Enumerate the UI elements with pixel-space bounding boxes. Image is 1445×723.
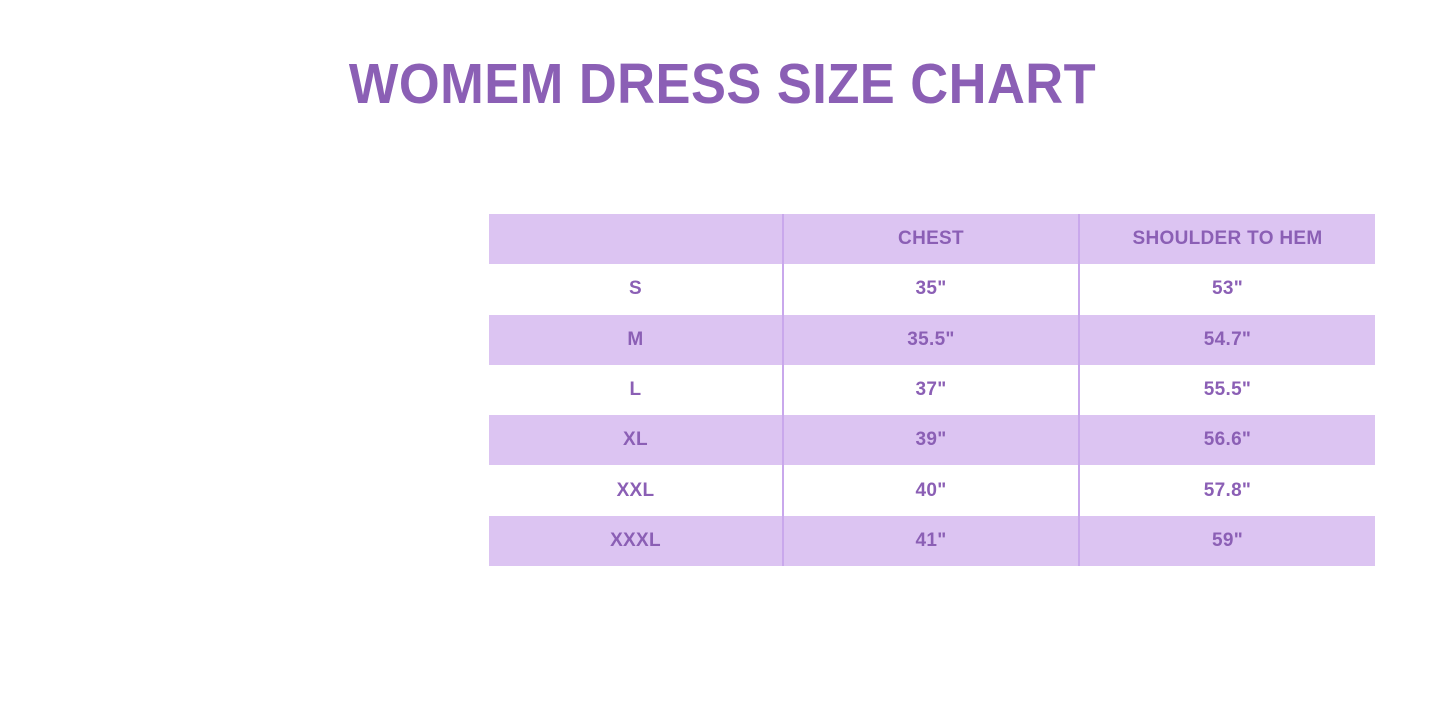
cell-shoulder-to-hem: 59"	[1079, 516, 1375, 566]
header-cell-size	[489, 214, 783, 264]
cell-size: XXXL	[489, 516, 783, 566]
cell-shoulder-to-hem: 56.6"	[1079, 415, 1375, 465]
table-row: XXXL 41" 59"	[489, 516, 1375, 566]
cell-shoulder-to-hem: 57.8"	[1079, 465, 1375, 515]
cell-size: XL	[489, 415, 783, 465]
cell-chest: 41"	[783, 516, 1079, 566]
cell-chest: 35.5"	[783, 315, 1079, 365]
table-header: CHEST SHOULDER TO HEM	[489, 214, 1375, 264]
cell-size: M	[489, 315, 783, 365]
cell-size: L	[489, 365, 783, 415]
size-chart-table: CHEST SHOULDER TO HEM S 35" 53" M 35.5" …	[489, 214, 1375, 566]
table-row: XXL 40" 57.8"	[489, 465, 1375, 515]
header-cell-chest: CHEST	[783, 214, 1079, 264]
cell-shoulder-to-hem: 55.5"	[1079, 365, 1375, 415]
table-row: XL 39" 56.6"	[489, 415, 1375, 465]
table-row: L 37" 55.5"	[489, 365, 1375, 415]
table-body: S 35" 53" M 35.5" 54.7" L 37" 55.5" XL 3…	[489, 264, 1375, 566]
cell-shoulder-to-hem: 54.7"	[1079, 315, 1375, 365]
cell-size: S	[489, 264, 783, 314]
table-row: S 35" 53"	[489, 264, 1375, 314]
cell-size: XXL	[489, 465, 783, 515]
table-header-row: CHEST SHOULDER TO HEM	[489, 214, 1375, 264]
page-title: WOMEM DRESS SIZE CHART	[58, 55, 1387, 115]
table-row: M 35.5" 54.7"	[489, 315, 1375, 365]
size-chart-page: WOMEM DRESS SIZE CHART CHEST SHOULDER TO…	[0, 0, 1445, 723]
cell-chest: 37"	[783, 365, 1079, 415]
cell-chest: 35"	[783, 264, 1079, 314]
cell-shoulder-to-hem: 53"	[1079, 264, 1375, 314]
header-cell-shoulder-to-hem: SHOULDER TO HEM	[1079, 214, 1375, 264]
cell-chest: 40"	[783, 465, 1079, 515]
cell-chest: 39"	[783, 415, 1079, 465]
